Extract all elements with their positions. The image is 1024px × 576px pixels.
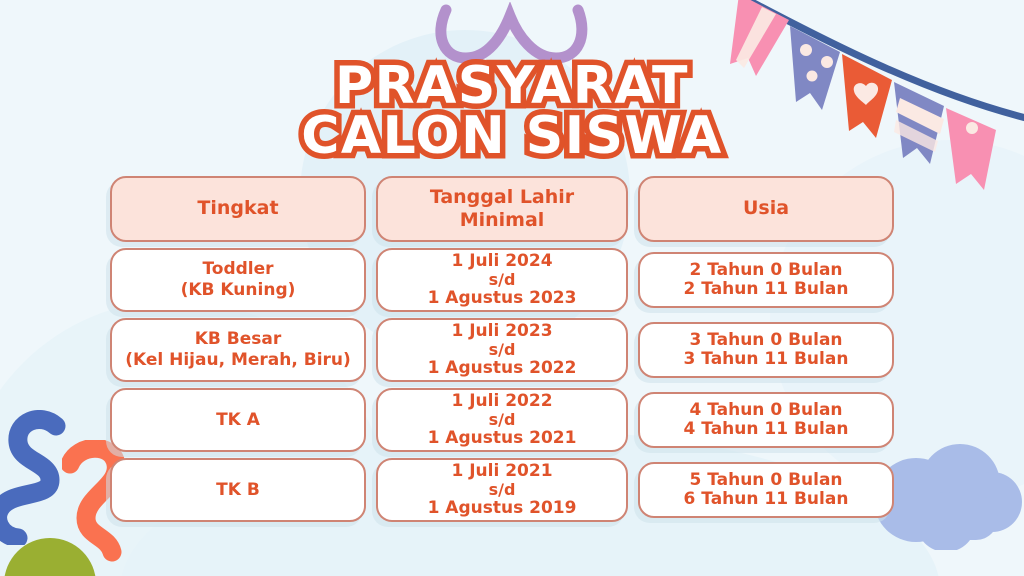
purple-loop-squiggle-icon <box>430 2 595 64</box>
cell-tanggal-lahir: 1 Juli 2024 s/d 1 Agustus 2023 <box>376 248 628 312</box>
requirements-table: Tingkat Tanggal Lahir Minimal Usia Toddl… <box>110 176 916 528</box>
tingkat-line-2: (Kel Hijau, Merah, Biru) <box>125 350 351 371</box>
tingkat-line-1: TK A <box>216 410 260 431</box>
cell-tingkat: TK A <box>110 388 366 452</box>
cell-tanggal-lahir: 1 Juli 2022 s/d 1 Agustus 2021 <box>376 388 628 452</box>
tanggal-line-1: 1 Juli 2023 <box>451 322 552 341</box>
tanggal-line-3: 1 Agustus 2021 <box>428 429 577 448</box>
tingkat-line-1: Toddler <box>202 259 273 280</box>
tanggal-line-3: 1 Agustus 2022 <box>428 359 577 378</box>
cell-tanggal-lahir: 1 Juli 2023 s/d 1 Agustus 2022 <box>376 318 628 382</box>
page-title: PRASYARAT CALON SISWA <box>0 62 1024 162</box>
tanggal-line-1: 1 Juli 2022 <box>451 392 552 411</box>
usia-line-2: 6 Tahun 11 Bulan <box>684 490 849 509</box>
tanggal-line-1: 1 Juli 2024 <box>451 252 552 271</box>
header-cell-usia: Usia <box>638 176 894 242</box>
title-line-1: PRASYARAT <box>0 62 1024 112</box>
cell-usia: 4 Tahun 0 Bulan 4 Tahun 11 Bulan <box>638 392 894 448</box>
tanggal-line-1: 1 Juli 2021 <box>451 462 552 481</box>
usia-line-1: 2 Tahun 0 Bulan <box>689 261 842 280</box>
table-header-row: Tingkat Tanggal Lahir Minimal Usia <box>110 176 916 242</box>
tingkat-line-2: (KB Kuning) <box>181 280 296 301</box>
usia-line-2: 2 Tahun 11 Bulan <box>684 280 849 299</box>
tanggal-line-2: s/d <box>489 341 516 359</box>
table-row: KB Besar (Kel Hijau, Merah, Biru) 1 Juli… <box>110 318 916 382</box>
tanggal-line-2: s/d <box>489 481 516 499</box>
header-label-tanggal-line2: Minimal <box>460 209 545 232</box>
header-label-usia: Usia <box>743 197 789 220</box>
usia-line-1: 4 Tahun 0 Bulan <box>689 401 842 420</box>
cell-tingkat: TK B <box>110 458 366 522</box>
table-row: Toddler (KB Kuning) 1 Juli 2024 s/d 1 Ag… <box>110 248 916 312</box>
table-row: TK B 1 Juli 2021 s/d 1 Agustus 2019 5 Ta… <box>110 458 916 522</box>
cell-usia: 5 Tahun 0 Bulan 6 Tahun 11 Bulan <box>638 462 894 518</box>
cell-tingkat: Toddler (KB Kuning) <box>110 248 366 312</box>
header-cell-tanggal-lahir-minimal: Tanggal Lahir Minimal <box>376 176 628 242</box>
tanggal-line-3: 1 Agustus 2019 <box>428 499 577 518</box>
header-label-tingkat: Tingkat <box>197 197 278 220</box>
poster-canvas: PRASYARAT CALON SISWA Tingkat Tanggal La… <box>0 0 1024 576</box>
cell-tingkat: KB Besar (Kel Hijau, Merah, Biru) <box>110 318 366 382</box>
table-row: TK A 1 Juli 2022 s/d 1 Agustus 2021 4 Ta… <box>110 388 916 452</box>
usia-line-1: 3 Tahun 0 Bulan <box>689 331 842 350</box>
title-line-2: CALON SISWA <box>0 112 1024 162</box>
tingkat-line-1: TK B <box>216 480 260 501</box>
header-label-tanggal-line1: Tanggal Lahir <box>430 186 574 209</box>
cell-usia: 3 Tahun 0 Bulan 3 Tahun 11 Bulan <box>638 322 894 378</box>
usia-line-2: 3 Tahun 11 Bulan <box>684 350 849 369</box>
tanggal-line-2: s/d <box>489 271 516 289</box>
cell-usia: 2 Tahun 0 Bulan 2 Tahun 11 Bulan <box>638 252 894 308</box>
tingkat-line-1: KB Besar <box>195 329 282 350</box>
tanggal-line-2: s/d <box>489 411 516 429</box>
header-cell-tingkat: Tingkat <box>110 176 366 242</box>
cell-tanggal-lahir: 1 Juli 2021 s/d 1 Agustus 2019 <box>376 458 628 522</box>
usia-line-2: 4 Tahun 11 Bulan <box>684 420 849 439</box>
tanggal-line-3: 1 Agustus 2023 <box>428 289 577 308</box>
usia-line-1: 5 Tahun 0 Bulan <box>689 471 842 490</box>
